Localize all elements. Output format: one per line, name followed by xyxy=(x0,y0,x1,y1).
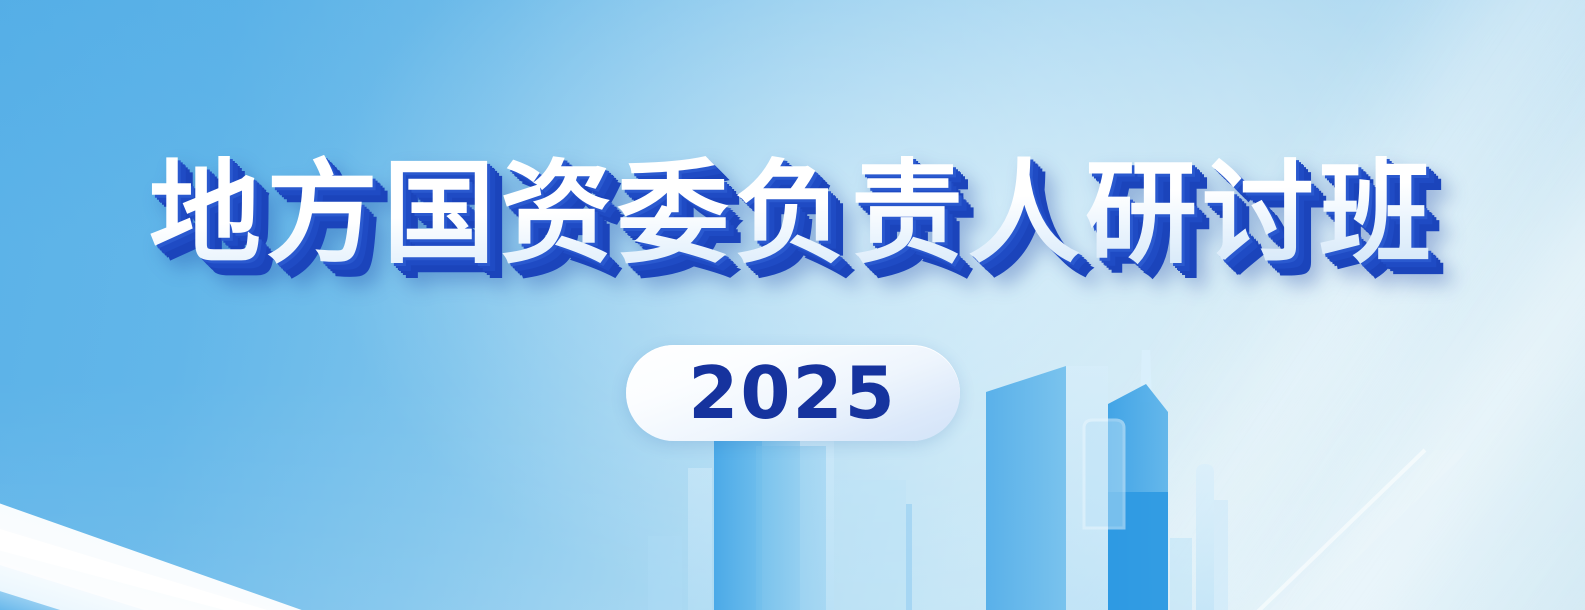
background-vertical-tint xyxy=(0,0,1585,610)
year-badge: 2025 xyxy=(626,345,960,441)
background-glow xyxy=(338,0,1438,610)
page-title: 地方国资委负责人研讨班 xyxy=(149,152,1436,277)
year-badge-row: 2025 xyxy=(0,345,1585,441)
event-banner: 地方国资委负责人研讨班 2025 xyxy=(0,0,1585,610)
light-ray-secondary-icon xyxy=(1061,0,1585,610)
banner-title-row: 地方国资委负责人研讨班 xyxy=(0,152,1585,277)
light-ray-icon xyxy=(1038,0,1585,610)
year-badge-label: 2025 xyxy=(688,357,896,429)
